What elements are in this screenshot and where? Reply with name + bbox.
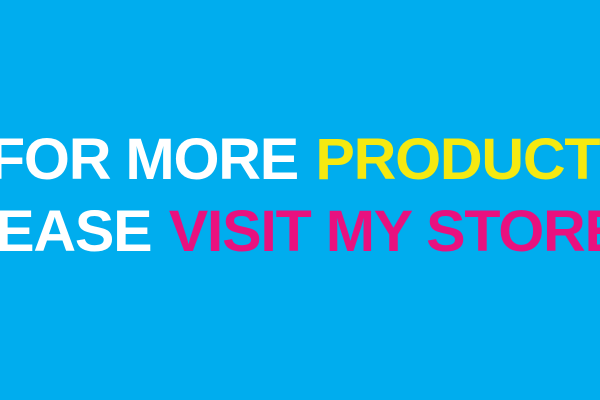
promo-banner: FOR MOREPRODUCT PLEASEVISIT MY STORE <box>0 0 600 400</box>
headline-line-2-accent: VISIT MY STORE <box>169 199 600 264</box>
headline-line-1-accent: PRODUCT <box>315 127 599 192</box>
banner-headline-line-1: FOR MOREPRODUCT <box>0 131 599 189</box>
banner-headline-line-2: PLEASEVISIT MY STORE <box>0 203 600 261</box>
headline-line-2-primary: PLEASE <box>0 199 151 264</box>
banner-text-block: FOR MOREPRODUCT PLEASEVISIT MY STORE <box>0 0 600 400</box>
headline-line-1-primary: FOR MORE <box>0 127 298 192</box>
